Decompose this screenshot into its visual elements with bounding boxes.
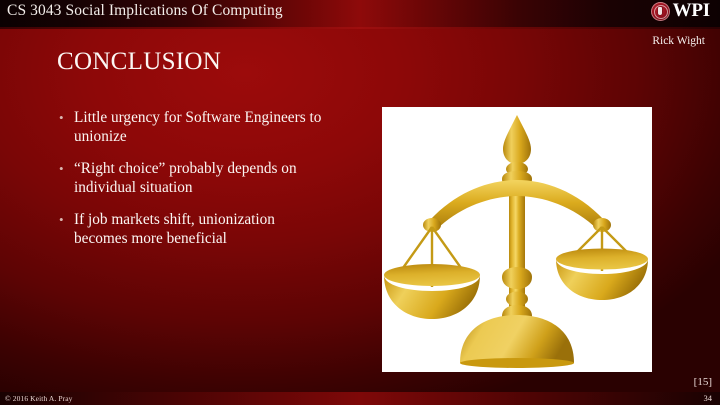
bullet-point-icon: • [56,108,74,127]
list-item-label: Little urgency for Software Engineers to… [74,108,332,146]
presenter-name: Rick Wight [652,35,705,47]
wpi-wordmark: WPI [673,1,710,21]
wpi-seal-icon [651,2,670,21]
wpi-logo: WPI [651,1,710,21]
list-item: • Little urgency for Software Engineers … [56,108,356,146]
footer-bar [0,392,720,405]
list-item-label: “Right choice” probably depends on indiv… [74,159,332,197]
bullet-point-icon: • [56,210,74,229]
header-divider [0,27,720,29]
slide-title: CONCLUSION [57,48,221,76]
citation-reference: [15] [694,376,712,388]
balance-scale-image [382,107,652,372]
bullet-list: • Little urgency for Software Engineers … [56,108,356,261]
balance-scale-icon [382,107,652,372]
presentation-slide: CS 3043 Social Implications Of Computing… [0,0,720,405]
page-number: 34 [704,393,713,403]
bullet-point-icon: • [56,159,74,178]
list-item-label: If job markets shift, unionization becom… [74,210,332,248]
list-item: • If job markets shift, unionization bec… [56,210,356,248]
course-title: CS 3043 Social Implications Of Computing [7,2,283,20]
list-item: • “Right choice” probably depends on ind… [56,159,356,197]
copyright-notice: © 2016 Keith A. Pray [5,394,73,403]
